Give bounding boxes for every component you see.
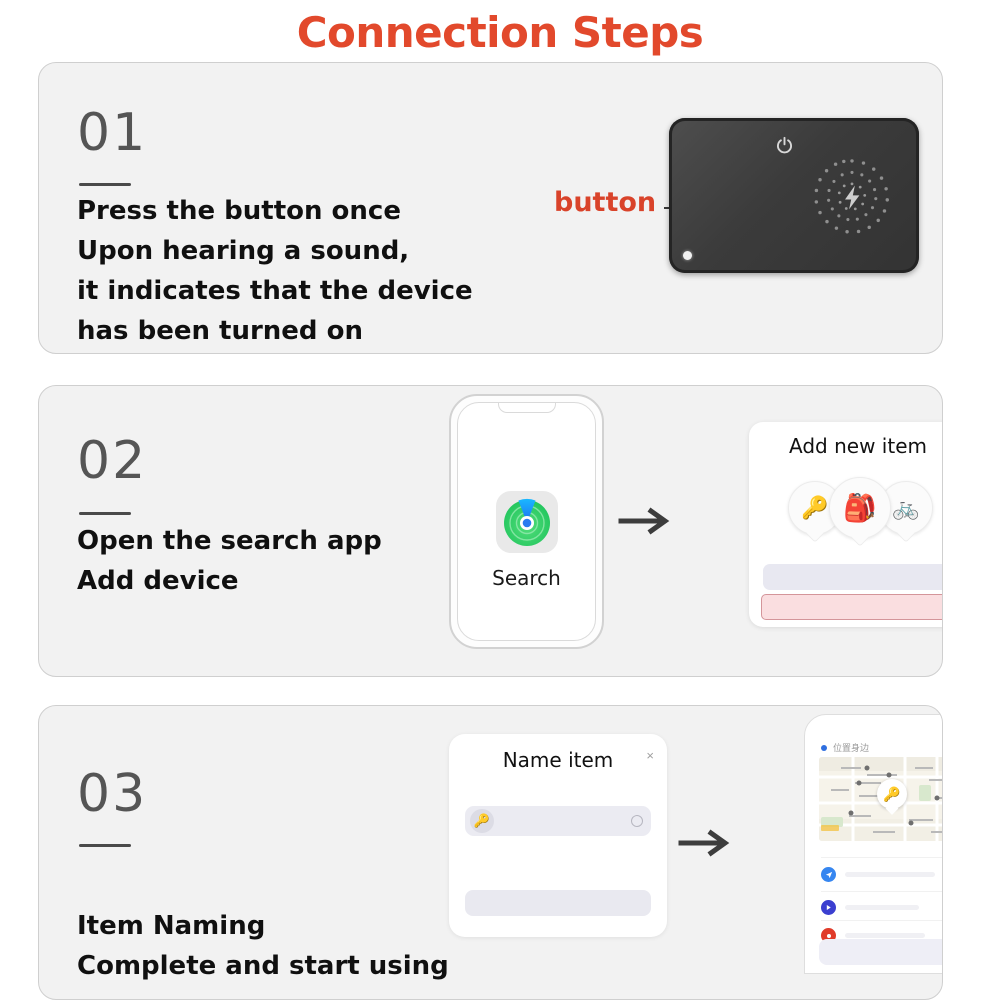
key-glyph: 🔑 <box>883 786 900 803</box>
step-divider-2 <box>79 512 131 515</box>
dialog-title: Name item <box>449 748 667 772</box>
map-header-label: 位置身边 <box>833 741 869 754</box>
step-1-description: Press the button once Upon hearing a sou… <box>77 191 473 351</box>
map-action-navigate-icon[interactable] <box>821 867 836 882</box>
key-glyph: 🔑 <box>801 495 828 521</box>
search-app-label: Search <box>458 566 595 590</box>
clear-icon[interactable] <box>631 815 643 827</box>
name-item-dialog: Name item × 🔑 <box>449 734 667 937</box>
close-icon[interactable]: × <box>646 748 654 763</box>
list-text-placeholder <box>845 933 925 938</box>
step-3-description: Item Naming Complete and start using <box>77 906 449 986</box>
step-divider-1 <box>79 183 131 186</box>
step-card-2: 02 Open the search app Add device <box>38 385 943 677</box>
key-icon[interactable]: 🔑 <box>877 779 907 809</box>
map-bottom-button[interactable] <box>819 939 943 965</box>
list-text-placeholder <box>845 872 935 877</box>
list-divider <box>821 891 943 892</box>
list-divider <box>821 920 943 921</box>
dialog-title: Add new item <box>749 434 943 458</box>
step-2-line-2: Add device <box>77 561 382 601</box>
phone-notch <box>498 403 556 413</box>
step-1-line-4: has been turned on <box>77 311 473 351</box>
key-glyph: 🔑 <box>474 813 490 829</box>
step-1-line-3: it indicates that the device <box>77 271 473 311</box>
step-3-line-1: Item Naming <box>77 906 449 946</box>
step-1-line-1: Press the button once <box>77 191 473 231</box>
step-1-line-2: Upon hearing a sound, <box>77 231 473 271</box>
page-title: Connection Steps <box>0 4 1000 62</box>
wireless-charging-icon <box>811 156 893 238</box>
phone-mockup-search: Search <box>449 394 604 649</box>
list-divider <box>821 857 943 858</box>
led-dot <box>683 251 692 260</box>
device-illustration <box>669 118 919 273</box>
search-radar-icon[interactable] <box>496 491 558 553</box>
arrow-right-icon <box>617 506 677 536</box>
backpack-icon[interactable]: 🎒 <box>829 477 891 539</box>
step-card-3: 03 Item Naming Complete and start using … <box>38 705 943 1000</box>
power-icon <box>775 136 794 155</box>
item-name-input[interactable]: 🔑 <box>465 806 651 836</box>
step-3-line-2: Complete and start using <box>77 946 449 986</box>
step-card-1: 01 Press the button once Upon hearing a … <box>38 62 943 354</box>
dialog-primary-button[interactable] <box>763 564 943 590</box>
dialog-primary-button[interactable] <box>465 890 651 916</box>
list-text-placeholder <box>845 905 919 910</box>
button-callout-label: button <box>554 187 656 218</box>
step-2-line-1: Open the search app <box>77 521 382 561</box>
status-dot <box>821 745 827 751</box>
phone-mockup-map: 位置身边 <box>804 714 943 974</box>
step-2-description: Open the search app Add device <box>77 521 382 601</box>
step-number-01: 01 <box>77 103 147 163</box>
map-header: 位置身边 <box>821 741 869 754</box>
step-number-03: 03 <box>77 764 147 824</box>
step-divider-3 <box>79 844 131 847</box>
map-thumbnail[interactable]: 🔑 <box>819 757 943 841</box>
backpack-glyph: 🎒 <box>843 492 877 524</box>
map-action-play-icon[interactable] <box>821 900 836 915</box>
key-icon: 🔑 <box>470 809 494 833</box>
bicycle-glyph: 🚲 <box>892 495 919 521</box>
item-type-options: 🔑 🚲 🎒 <box>783 477 933 539</box>
arrow-right-icon <box>677 828 737 858</box>
phone-screen: Search <box>457 402 596 641</box>
add-new-item-dialog: Add new item × 🔑 🚲 🎒 <box>749 422 943 627</box>
dialog-secondary-button[interactable] <box>761 594 943 620</box>
step-number-02: 02 <box>77 431 147 491</box>
